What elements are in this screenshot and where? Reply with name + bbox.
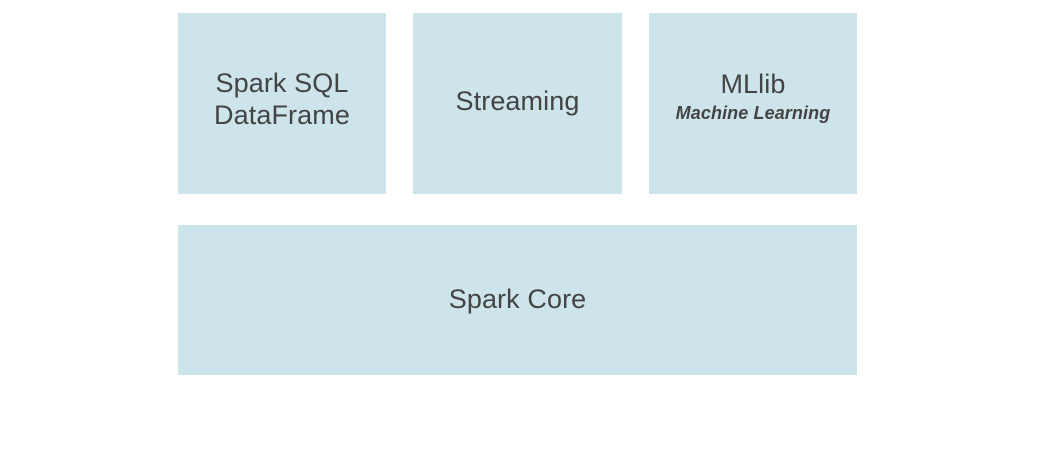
component-box-spark-core[interactable]: Spark Core (178, 225, 857, 375)
component-box-mllib[interactable]: MLlib Machine Learning (649, 13, 857, 194)
mllib-subtitle: Machine Learning (676, 103, 831, 124)
streaming-title: Streaming (456, 86, 580, 117)
streaming-label-stack: Streaming (456, 86, 580, 117)
mllib-title: MLlib (720, 69, 785, 100)
component-box-spark-sql[interactable]: Spark SQL DataFrame (178, 13, 386, 194)
spark-sql-title-line-2: DataFrame (214, 100, 350, 131)
spark-core-label-stack: Spark Core (449, 284, 587, 315)
spark-sql-label-stack: Spark SQL DataFrame (214, 68, 350, 131)
spark-stack-diagram: Spark SQL DataFrame Streaming MLlib Mach… (0, 0, 1053, 457)
spark-sql-title-line-1: Spark SQL (216, 68, 349, 99)
component-box-streaming[interactable]: Streaming (413, 13, 622, 194)
mllib-label-stack: MLlib Machine Learning (676, 69, 831, 123)
spark-core-title: Spark Core (449, 284, 587, 315)
